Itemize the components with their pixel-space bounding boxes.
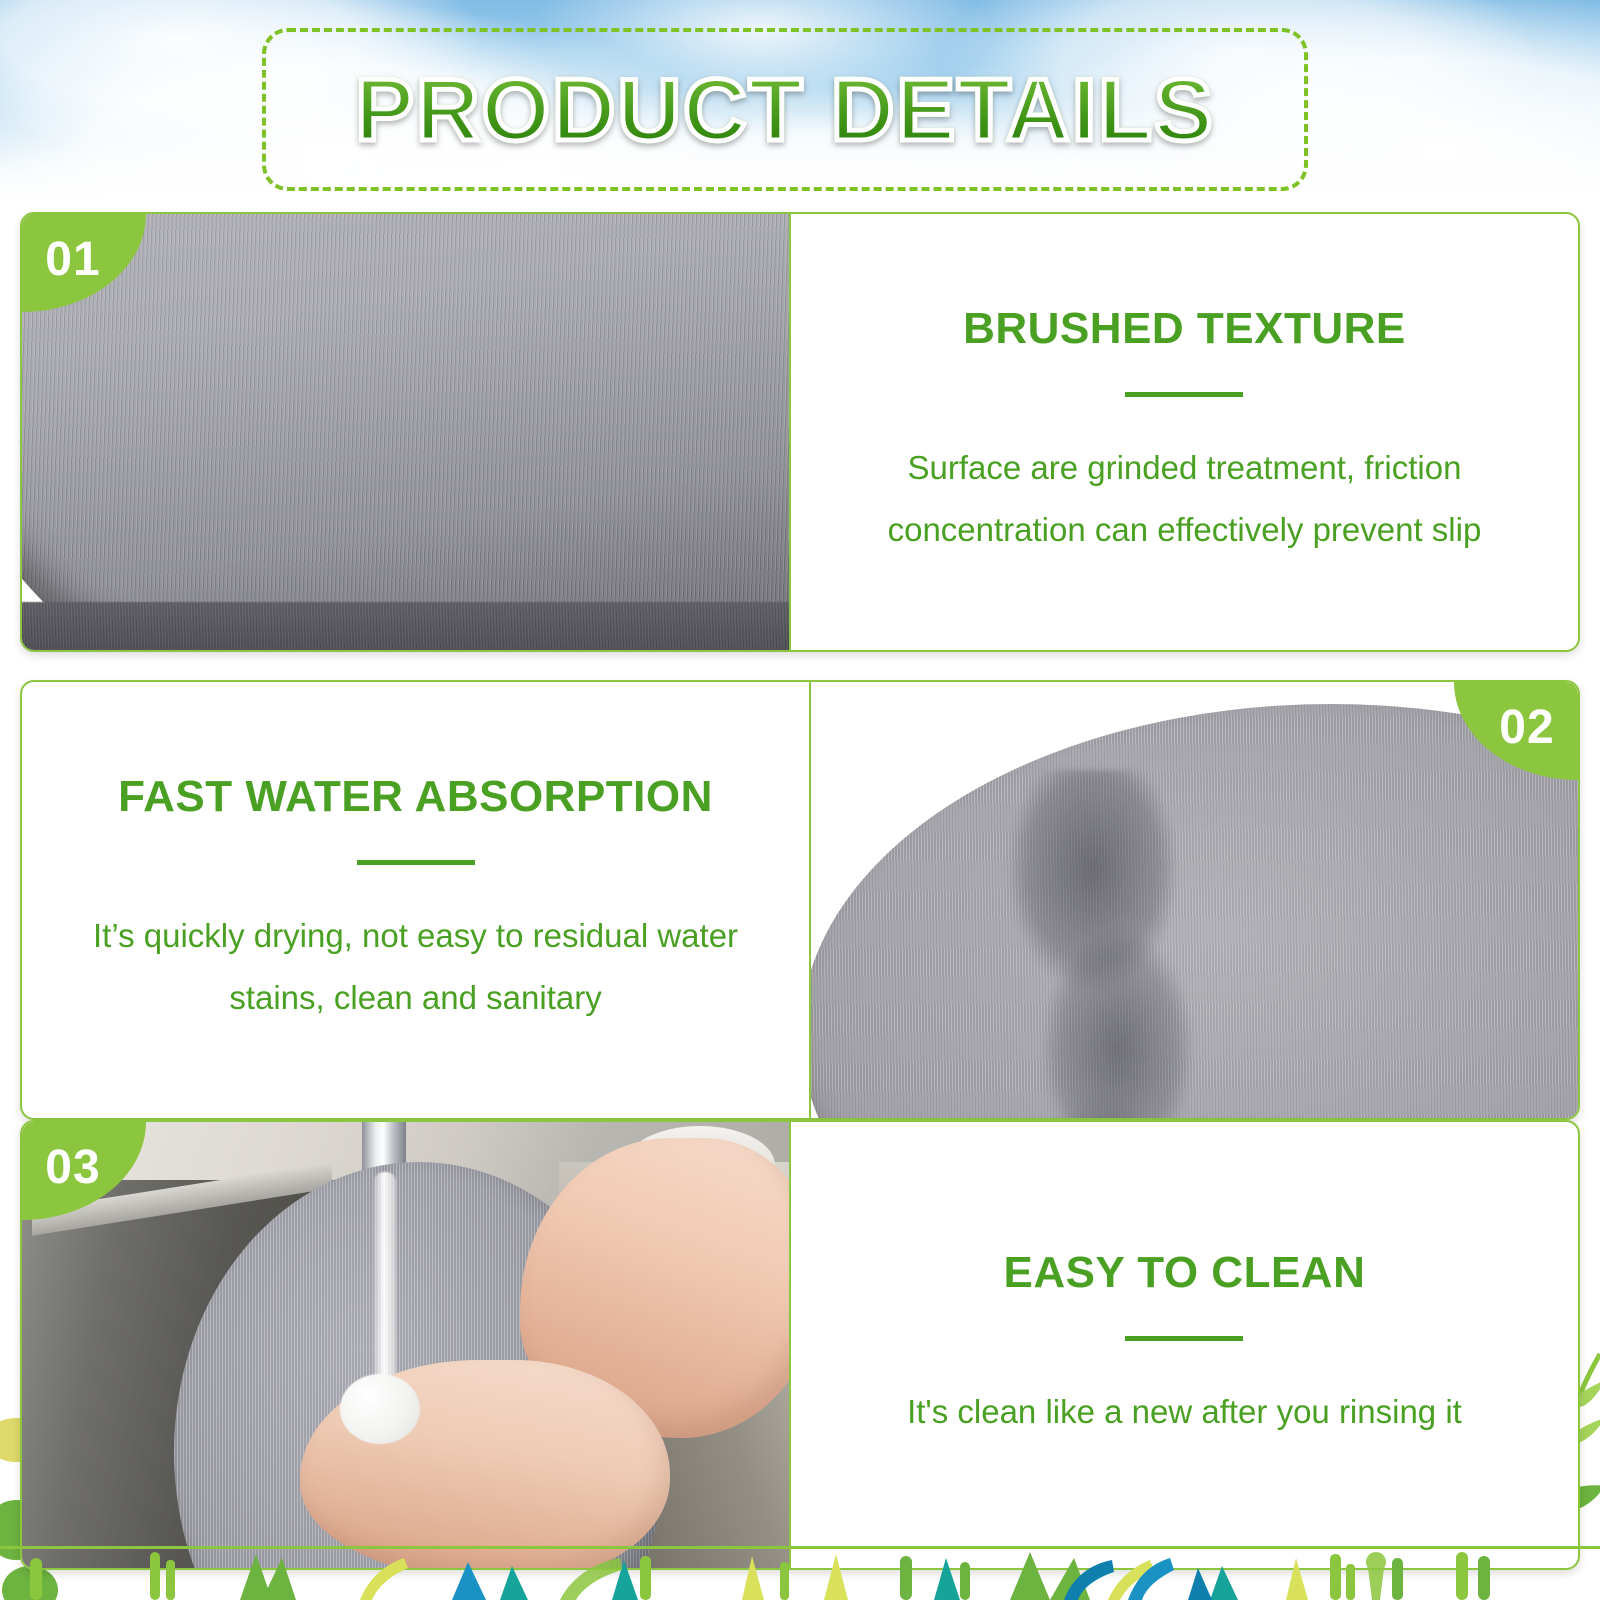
title-underline-01 xyxy=(1125,392,1243,397)
feature-number-label: 01 xyxy=(45,232,100,287)
botanical-leaves-pattern xyxy=(0,1548,1600,1600)
mat-surface-graphic xyxy=(22,214,789,650)
feature-image-02: 02 xyxy=(811,682,1578,1118)
feature-text-02: FAST WATER ABSORPTION It’s quickly dryin… xyxy=(22,682,809,1118)
feature-card-01: 01 BRUSHED TEXTURE Surface are grinded t… xyxy=(20,212,1580,652)
feature-number-label: 02 xyxy=(1499,700,1554,755)
page-title: PRODUCT DETAILS xyxy=(355,59,1214,161)
feature-description-line-1: Surface are grinded treatment, friction xyxy=(907,449,1461,486)
title-underline-02 xyxy=(357,860,475,865)
feature-title-01: BRUSHED TEXTURE xyxy=(963,304,1406,354)
bottom-decoration-band xyxy=(0,1542,1600,1600)
feature-image-03: 03 xyxy=(22,1122,789,1568)
title-underline-03 xyxy=(1125,1336,1243,1341)
feature-title-03: EASY TO CLEAN xyxy=(1004,1248,1366,1298)
feature-description-line-2: stains, clean and sanitary xyxy=(229,979,601,1016)
feature-card-02: FAST WATER ABSORPTION It’s quickly dryin… xyxy=(20,680,1580,1120)
soap-foam-graphic xyxy=(340,1374,420,1444)
feature-description-03: It's clean like a new after you rinsing … xyxy=(907,1381,1462,1442)
feature-description-02: It’s quickly drying, not easy to residua… xyxy=(93,905,738,1027)
feature-text-01: BRUSHED TEXTURE Surface are grinded trea… xyxy=(791,214,1578,650)
feature-description-01: Surface are grinded treatment, friction … xyxy=(888,437,1482,559)
mat-edge-graphic xyxy=(22,602,789,650)
feature-description-line-2: concentration can effectively prevent sl… xyxy=(888,511,1482,548)
feature-image-01: 01 xyxy=(22,214,789,650)
feature-card-03: 03 EASY TO CLEAN It's clean like a new a… xyxy=(20,1120,1580,1570)
water-stain-graphic xyxy=(973,770,1223,1118)
feature-number-label: 03 xyxy=(45,1140,100,1195)
feature-description-line-1: It’s quickly drying, not easy to residua… xyxy=(93,917,738,954)
page-title-frame: PRODUCT DETAILS xyxy=(262,28,1308,191)
feature-title-02: FAST WATER ABSORPTION xyxy=(118,772,713,822)
feature-text-03: EASY TO CLEAN It's clean like a new afte… xyxy=(791,1122,1578,1568)
